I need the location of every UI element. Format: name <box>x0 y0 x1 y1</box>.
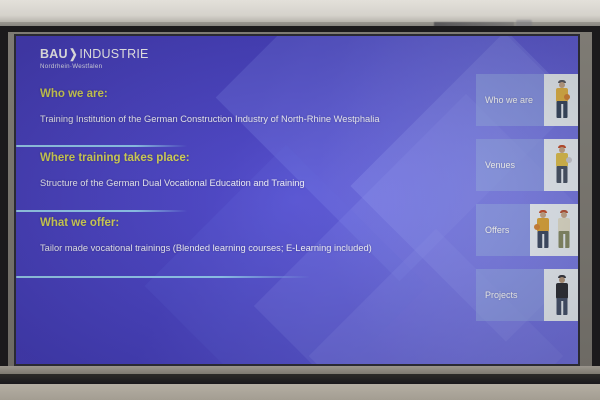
section-body: Training Institution of the German Const… <box>40 114 380 124</box>
nav-card-thumbnail-worker-with-helmet <box>544 74 578 126</box>
nav-card-thumbnail-worker-hi-vis <box>544 139 578 191</box>
nav-card-venues[interactable]: Venues <box>476 139 578 191</box>
section-where-training: Where training takes place: Structure of… <box>40 152 305 188</box>
nav-card-thumbnail-person-dark-jacket <box>544 269 578 321</box>
nav-card-label: Venues <box>476 160 544 170</box>
logo-arrow-icon: ❯ <box>69 48 78 61</box>
logo-wordmark: BAU❯INDUSTRIE <box>40 48 149 61</box>
nav-card-thumbnail-two-workers <box>530 204 578 256</box>
nav-card-who-we-are[interactable]: Who we are <box>476 74 578 126</box>
nav-card-label: Projects <box>476 290 544 300</box>
nav-card-label: Offers <box>476 225 530 235</box>
display-photo: BAU❯INDUSTRIE Nordrhein·Westfalen Who we… <box>0 0 600 400</box>
nav-card-label: Who we are <box>476 95 544 105</box>
logo: BAU❯INDUSTRIE Nordrhein·Westfalen <box>40 48 149 70</box>
presentation-slide[interactable]: BAU❯INDUSTRIE Nordrhein·Westfalen Who we… <box>16 36 578 364</box>
section-divider-1 <box>16 145 187 147</box>
section-divider-2 <box>16 210 187 212</box>
section-body: Tailor made vocational trainings (Blende… <box>40 243 372 253</box>
section-what-we-offer: What we offer: Tailor made vocational tr… <box>40 217 372 253</box>
section-who-we-are: Who we are: Training Institution of the … <box>40 88 380 124</box>
logo-brand-second-text: INDUSTRIE <box>79 47 148 61</box>
logo-brand-text: BAU <box>40 47 68 61</box>
nav-card-offers[interactable]: Offers <box>476 204 578 256</box>
section-divider-3 <box>16 276 310 278</box>
section-heading: Who we are: <box>40 88 380 100</box>
section-heading: Where training takes place: <box>40 152 305 164</box>
wall-below-display <box>0 384 600 400</box>
nav-card-projects[interactable]: Projects <box>476 269 578 321</box>
section-heading: What we offer: <box>40 217 372 229</box>
logo-subtitle: Nordrhein·Westfalen <box>40 63 149 70</box>
section-body: Structure of the German Dual Vocational … <box>40 178 305 188</box>
